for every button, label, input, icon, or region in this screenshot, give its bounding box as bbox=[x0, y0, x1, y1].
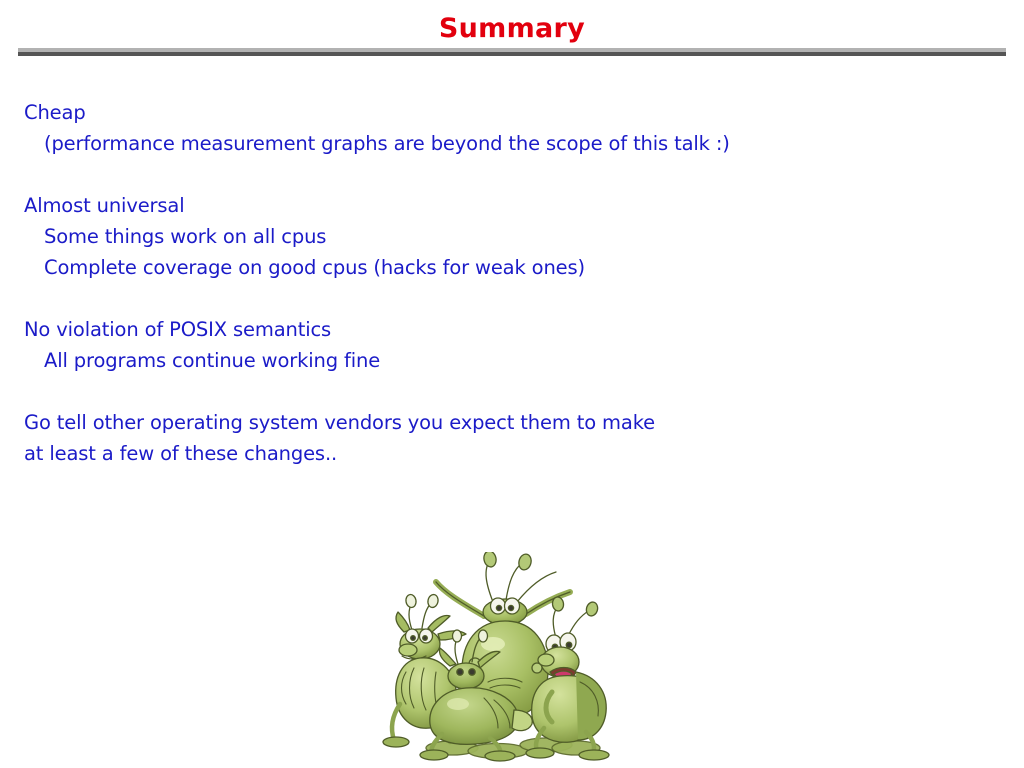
content-line: Go tell other operating system vendors y… bbox=[24, 407, 984, 438]
page-title: Summary bbox=[0, 14, 1024, 44]
content-block: Almost universal Some things work on all… bbox=[24, 190, 984, 283]
content-line: Almost universal bbox=[24, 190, 984, 221]
content-line: (performance measurement graphs are beyo… bbox=[24, 128, 984, 159]
content-line: Cheap bbox=[24, 97, 984, 128]
bugs-icon bbox=[380, 552, 630, 764]
content-line: All programs continue working fine bbox=[24, 345, 984, 376]
content-block: Cheap (performance measurement graphs ar… bbox=[24, 97, 984, 159]
content-block: Go tell other operating system vendors y… bbox=[24, 407, 984, 469]
three-cartoon-bugs-illustration bbox=[380, 552, 630, 764]
content-line: Complete coverage on good cpus (hacks fo… bbox=[24, 252, 984, 283]
content-block: No violation of POSIX semantics All prog… bbox=[24, 314, 984, 376]
content-line: Some things work on all cpus bbox=[24, 221, 984, 252]
content-line: No violation of POSIX semantics bbox=[24, 314, 984, 345]
title-divider bbox=[18, 48, 1006, 56]
content-line: at least a few of these changes.. bbox=[24, 438, 984, 469]
slide-body: Cheap (performance measurement graphs ar… bbox=[24, 97, 984, 469]
